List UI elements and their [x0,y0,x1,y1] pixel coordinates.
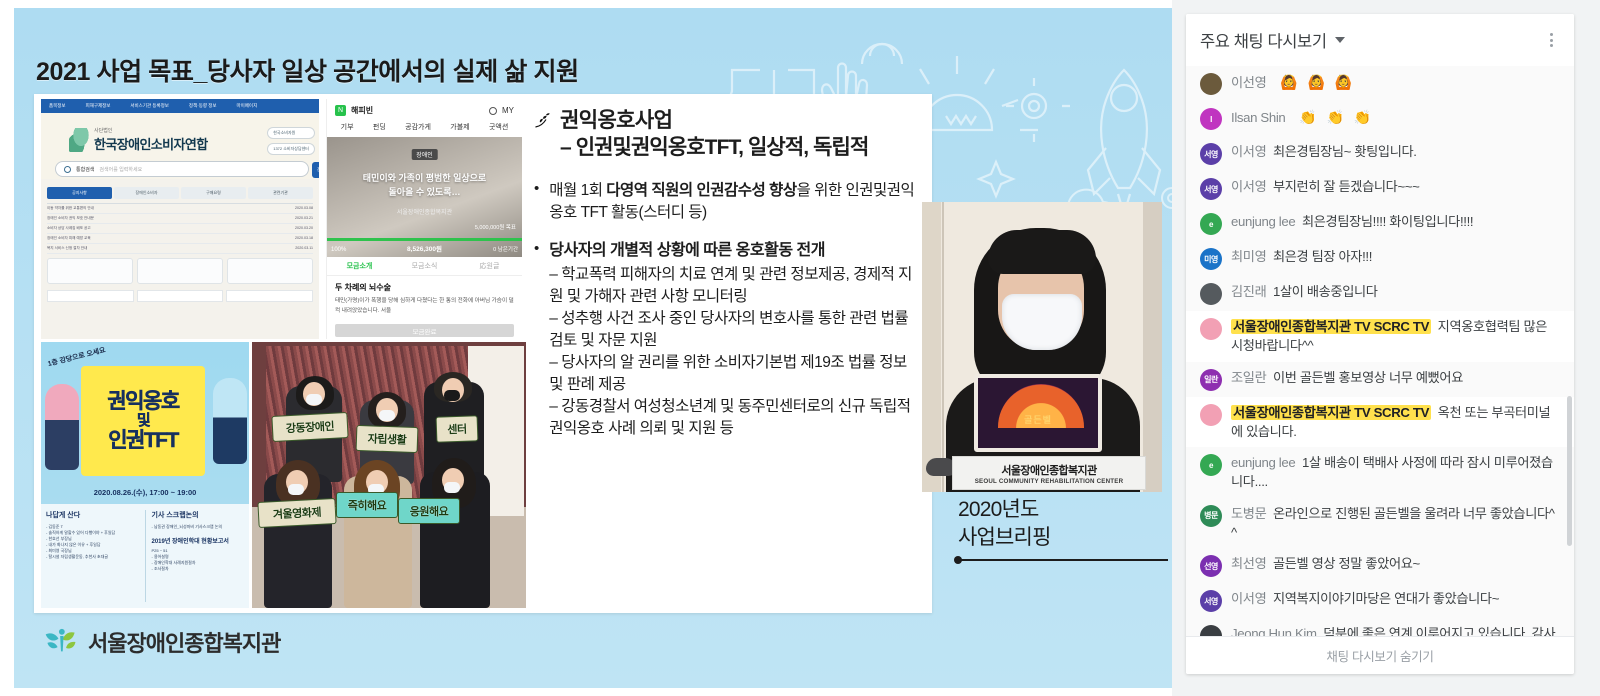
photo-sign: 즉히해요 [336,492,398,518]
chat-body: 1살이 배송중입니다 [1266,284,1377,299]
site-hero: 사단법인 한국장애인소비자연합 한국소비자원 1372 소비자상담센터 통합검색… [41,113,319,179]
chat-message: 선영최선영 골든벨 영상 정말 좋았어요~ [1186,548,1574,583]
site-card [47,258,133,284]
chat-message-text: 이서영 부지런히 잘 듣겠습니다~~~ [1231,177,1420,196]
avatar [1200,283,1222,305]
briefing-line-2: 사업브리핑 [958,524,1168,552]
site-tab: 구매요령 [181,187,246,199]
chat-author: Ilsan Shin [1231,110,1285,125]
site-org-name: 한국장애인소비자연합 [94,134,208,153]
nav-item: 마이페이지 [237,103,258,109]
happybean-my-link: MY [502,106,514,115]
tab: 모금소식 [392,261,457,271]
chat-author: 조일란 [1231,370,1266,385]
bullet-text: 매월 1회 다영역 직원의 인권감수성 향상을 위한 인권및권익옹호 TFT 활… [549,180,922,224]
chat-body: 온라인으로 진행된 골든벨을 울려라 너무 좋았습니다^^ [1231,506,1555,540]
chat-author: eunjung lee [1231,214,1295,229]
chat-body: 최은경 팀장 아자!!! [1266,249,1372,264]
nav-item: 피해구제정보 [86,103,111,109]
presenter-video-inset[interactable]: 골든벨 서울장애인종합복지관 SEOUL COMMUNITY REHABILIT… [922,202,1162,492]
bullet-subitem: – 강동경찰서 여성청소년계 및 동주민센터로의 신규 독립적 권익옹호 사례 … [549,396,922,440]
chat-author: 서울장애인종합복지관 TV SCRC TV [1231,319,1431,334]
chat-hide-footer[interactable]: 채팅 다시보기 숨기기 [1186,636,1574,674]
poster-col1-heading: 나답게 산다 [46,510,139,520]
bullet-bold: 다영역 직원의 인권감수성 향상 [606,182,796,199]
row-title: 장애인 소비자 권익 보호 안내문 [47,216,291,221]
app-root: 2021 사업 목표_당사자 일상 공간에서의 실제 삶 지원 품목정보 피해구… [0,0,1600,696]
chat-author: 최선영 [1231,556,1266,571]
target-icon [1006,78,1070,142]
chat-body: 최은경팀장님!!!! 화이팅입니다!!!! [1295,214,1473,229]
screenshot-advocacy-poster: 1층 강당으로 오세요 권익옹호 및 인권TFT 2020.08.26.(수),… [41,342,249,608]
search-icon [489,107,497,115]
poster-date: 2020.08.26.(수), 17:00 ~ 19:00 [41,487,249,498]
screenshot-consumer-association-site: 품목정보 피해구제정보 서비스기관 등록정보 정책·동향 정보 마이페이지 사단… [41,99,319,339]
bullet-text: 당사자의 개별적 상황에 따른 옹호활동 전개 – 학교폭력 피해자의 치료 연… [549,240,922,441]
chat-message-text: Ilsan Shin 👏 👏 👏 [1231,107,1374,127]
chat-scrollbar[interactable] [1567,396,1572,546]
row-date: 2020.03.08 [295,206,313,211]
chat-author: eunjung lee [1231,455,1295,470]
chat-author: 김진래 [1231,284,1266,299]
slide-heading-block: 권익옹호사업 – 인권및권익옹호TFT, 일상적, 독립적 [534,108,922,162]
bullet-subitem: – 당사자의 알 권리를 위한 소비자기본법 제19조 법률 정보 및 판례 제… [549,352,922,396]
nav-item: 정책·동향 정보 [189,103,217,109]
hero-line-1: 태민이와 가족이 평범한 일상으로 [327,171,522,184]
chat-message-text: 이선영 🙆 🙆 🙆 [1231,72,1355,92]
row-date: 2020.03.20 [295,226,313,231]
nav-item: 품목정보 [49,103,66,109]
poster-col2-heading-2: 2019년 장애인학대 현황보고서 [152,536,245,545]
chat-message: eeunjung lee 최은경팀장님!!!! 화이팅입니다!!!! [1186,206,1574,241]
chat-author: Jeong Hun Kim [1231,626,1317,636]
nav-item: 굿액션 [489,122,508,132]
chat-replay-panel: 주요 채팅 다시보기 이선영 🙆 🙆 🙆IIlsan Shin 👏 👏 👏서영이… [1186,14,1574,674]
table-row: 소비자 상담 사례집 배포 공고2020.03.20 [47,224,313,234]
scrc-bird-logo-icon [44,627,78,657]
chat-author: 이선영 [1231,75,1266,90]
hero-line-2: 돌아올 수 있도록… [327,185,522,198]
avatar: I [1200,108,1222,130]
chat-message: 일란조일란 이번 골든벨 홍보영상 너무 예뻤어요 [1186,362,1574,397]
row-title: 복지 서비스 신청 절차 안내 [47,246,291,251]
site-tab: 관련기관 [248,187,313,199]
chat-replay-column: 주요 채팅 다시보기 이선영 🙆 🙆 🙆IIlsan Shin 👏 👏 👏서영이… [1172,0,1600,696]
chat-body: 골든벨 영상 정말 좋았어요~ [1266,556,1420,571]
chat-body: 이번 골든벨 홍보영상 너무 예뻤어요 [1266,370,1463,385]
bullet-dot-icon: • [534,180,539,224]
chat-message-text: 도병문 온라인으로 진행된 골든벨을 울려라 너무 좋았습니다^^ [1231,504,1556,543]
chat-message: 서영이서영 지역복지이야기마당은 연대가 좋았습니다~ [1186,583,1574,618]
avatar: e [1200,213,1222,235]
partner-logo [47,290,134,302]
happybean-category-badge: 장애인 [411,149,438,160]
photo-sign: 겨울영화제 [257,498,336,528]
screenshot-group-photo: 강동장애인 자립생활 센터 겨울영화제 즉히해요 응원해요 [252,342,526,608]
site-search-bar: 통합검색 검색어를 입력하세요 검색 [55,161,309,177]
happybean-brand: 해피빈 [351,105,373,116]
search-placeholder: 검색어를 입력하세요 [99,166,142,173]
photo-mask [444,390,460,401]
tab: 応원글 [457,261,522,271]
photo-mask [306,394,322,405]
chat-author: 최미영 [1231,249,1266,264]
nav-item: 공감가게 [405,122,431,132]
chat-author: 이서영 [1231,591,1266,606]
avatar: 서영 [1200,178,1222,200]
bullet-strong-line: 당사자의 개별적 상황에 따른 옹호활동 전개 [549,240,922,263]
background-monitor: 골든벨 [974,374,1102,452]
bullet-subitem: – 학교폭력 피해자의 치료 연계 및 관련 정보제공, 경제적 지원 및 가해… [549,264,922,308]
presenter-face-mask [1002,294,1082,350]
chat-message-text: 서울장애인종합복지관 TV SCRC TV 지역옹호협력팀 많은 시청바랍니다^… [1231,317,1556,356]
slide-text-content: 권익옹호사업 – 인권및권익옹호TFT, 일상적, 독립적 • 매월 1회 다영… [534,108,922,603]
photo-mask [288,484,304,495]
slide-heading-2: – 인권및권익옹호TFT, 일상적, 독립적 [560,134,868,161]
bullet-subitem: – 성추행 사건 조사 중인 당사자의 변호사를 통한 관련 법률 검토 및 자… [549,308,922,352]
gear-icon [1162,188,1172,208]
chat-body: 🙆 🙆 🙆 [1266,74,1355,90]
happybean-hero: 장애인 태민이와 가족이 평범한 일상으로 돌아올 수 있도록… 서울장애인종합… [327,137,522,257]
hero-goal: 5,000,000원 목표 [475,223,516,231]
chat-message-text: 조일란 이번 골든벨 홍보영상 너무 예뻤어요 [1231,368,1463,387]
bullet-dot-icon: • [534,240,539,441]
chat-body: 최은경팀장님~ 홧팅입니다. [1266,144,1416,159]
organization-logo: 서울장애인종합복지관 [44,626,280,658]
chat-message-list[interactable]: 이선영 🙆 🙆 🙆IIlsan Shin 👏 👏 👏서영이서영 최은경팀장님~ … [1186,66,1574,636]
happybean-header: N 해피빈 MY [327,99,522,122]
row-title: 장애인 소비자 피해 예방 교육 [47,236,291,241]
plate-english-name: SEOUL COMMUNITY REHABILITATION CENTER [975,478,1124,485]
poster-column-right: 기사 스크랩논의 - 남동권 장애인_뇌성마비 기사스크랩 논의 2019년 장… [152,510,245,602]
bullet-lead: 매월 1회 [549,182,606,199]
monitor-caption: 골든벨 [978,413,1098,426]
chat-body: 지역복지이야기마당은 연대가 좋았습니다~ [1266,591,1499,606]
poster-col2-item: - 남동권 장애인_뇌성마비 기사스크랩 논의 [152,524,245,530]
story-body: 태민(가명)이가 폭행을 당해 심하게 다쳤다는 한 통의 전화에 아버님 가슴… [327,293,522,320]
site-partner-logos [41,288,319,304]
nav-item: 가볼제 [450,122,469,132]
chat-message: 병문도병문 온라인으로 진행된 골든벨을 울려라 너무 좋았습니다^^ [1186,498,1574,549]
tab: 모금소개 [327,261,392,271]
chat-message: Jeong Hun Kim 덕분에 좋은 연계 이루어지고 있습니다. 감사합니… [1186,618,1574,636]
presenter-fringe [988,230,1096,274]
poster-col1-item: - 탈시설 자립생활운동, 추천사 초대글 [46,554,139,560]
chat-author: 이서영 [1231,144,1266,159]
chat-header: 주요 채팅 다시보기 [1186,14,1574,66]
happybean-logo-icon: N [335,105,346,116]
avatar: 서영 [1200,143,1222,165]
table-row: 장애인 소비자 권익 보호 안내문2020.03.21 [47,214,313,224]
sparkle-icon [979,162,1013,196]
chat-body: 부지런히 잘 듣겠습니다~~~ [1266,179,1419,194]
briefing-line-1: 2020년도 [958,496,1168,524]
poster-title-line-3: 인권TFT [108,430,178,451]
site-tab: 공지사항 [47,187,112,199]
avatar [1200,318,1222,340]
chat-message: 이선영 🙆 🙆 🙆 [1186,66,1574,101]
nav-item: 펀딩 [373,122,386,132]
wall-seam [942,202,944,492]
photo-mask [379,410,395,421]
site-tabs: 공지사항 장애인소비자 구매요령 관련기관 [47,187,313,199]
site-nav: 품목정보 피해구제정보 서비스기관 등록정보 정책·동향 정보 마이페이지 [41,99,319,113]
chat-message: 미영최미영 최은경 팀장 아자!!! [1186,241,1574,276]
table-row: 이동 약자를 위한 교통편의 안내2020.03.08 [47,204,313,214]
partner-logo [226,290,313,302]
slide-heading-1: 권익옹호사업 [560,108,868,134]
avatar [1200,404,1222,426]
chat-message: 서영이서영 최은경팀장님~ 홧팅입니다. [1186,136,1574,171]
site-card [137,258,223,284]
donate-cta-button: 모금완료 [335,324,514,337]
chat-author: 도병문 [1231,506,1266,521]
chat-message: 서울장애인종합복지관 TV SCRC TV 지역옹호협력팀 많은 시청바랍니다^… [1186,311,1574,362]
slide-title: 2021 사업 목표_당사자 일상 공간에서의 실제 삶 지원 [36,52,579,88]
screenshot-happybean-donation-page: N 해피빈 MY 기부 펀딩 공감가게 가볼제 굿액션 장애인 태민이 [326,99,522,339]
leaf-logo-icon [69,128,89,152]
slide-bullet-list: • 매월 1회 다영역 직원의 인권감수성 향상을 위한 인권및권익옹호 TFT… [534,180,922,441]
search-button: 검색 [312,162,319,178]
avatar: 서영 [1200,590,1222,612]
chat-message: 서울장애인종합복지관 TV SCRC TV 옥천 또는 부곡터미널에 있습니다. [1186,397,1574,448]
site-cards [41,254,319,288]
row-date: 2020.03.18 [295,236,313,241]
table-row: 복지 서비스 신청 절차 안내2020.03.11 [47,244,313,254]
avatar [1200,625,1222,636]
row-date: 2020.03.11 [295,246,313,251]
chat-message-text: 서울장애인종합복지관 TV SCRC TV 옥천 또는 부곡터미널에 있습니다. [1231,403,1556,442]
site-tab: 장애인소비자 [114,187,179,199]
chat-message-text: 이서영 최은경팀장님~ 홧팅입니다. [1231,142,1417,161]
nav-item: 기부 [341,122,354,132]
site-assoc-label: 사단법인 [94,127,208,134]
happybean-nav: 기부 펀딩 공감가게 가볼제 굿액션 [327,122,522,137]
center-name-plate: 서울장애인종합복지관 SEOUL COMMUNITY REHABILITATIO… [952,456,1146,490]
avatar: 병문 [1200,505,1222,527]
chat-message: 김진래 1살이 배송중입니다 [1186,276,1574,311]
photo-sign: 센터 [436,415,479,442]
avatar: 선영 [1200,555,1222,577]
avatar: 일란 [1200,369,1222,391]
chat-author: 서울장애인종합복지관 TV SCRC TV [1231,405,1431,420]
avatar: e [1200,454,1222,476]
chat-message-text: eunjung lee 1살 배송이 택배사 사정에 따라 잠시 미루어졌습니다… [1231,453,1556,492]
rocket-icon [1088,70,1160,214]
story-title: 두 차례의 뇌수술 [327,276,522,293]
photo-sign: 자립생활 [356,425,419,453]
table-row: 장애인 소비자 피해 예방 교육2020.03.18 [47,234,313,244]
chat-hide-label: 채팅 다시보기 숨기기 [1326,646,1433,665]
partner-logo [137,290,224,302]
bullet-item: • 당사자의 개별적 상황에 따른 옹호활동 전개 – 학교폭력 피해자의 치료… [534,240,922,441]
poster-figure-left [45,384,79,470]
happybean-tabs: 모금소개 모금소식 応원글 [327,257,522,276]
hero-org: 서울장애인종합복지관 [327,207,522,216]
row-title: 이동 약자를 위한 교통편의 안내 [47,206,291,211]
presentation-stage: 2021 사업 목표_당사자 일상 공간에서의 실제 삶 지원 품목정보 피해구… [0,0,1172,696]
poster-divider [145,510,146,602]
plate-korean-name: 서울장애인종합복지관 [1001,462,1096,478]
avatar: 미영 [1200,248,1222,270]
chat-title[interactable]: 주요 채팅 다시보기 [1200,28,1327,52]
site-quick-links: 한국소비자원 1372 소비자상담센터 [267,127,315,155]
quick-link: 한국소비자원 [267,127,315,139]
poster-column-left: 나답게 산다 - 김동준 T - 솔직하게 말할수 있어 다행이야 + 후일담 … [46,510,139,602]
row-date: 2020.03.21 [295,216,313,221]
slide-content-card: 품목정보 피해구제정보 서비스기관 등록정보 정책·동향 정보 마이페이지 사단… [34,94,932,613]
slide-canvas: 2021 사업 목표_당사자 일상 공간에서의 실제 삶 지원 품목정보 피해구… [14,8,1172,688]
slide-heading-lines: 권익옹호사업 – 인권및권익옹호TFT, 일상적, 독립적 [560,108,868,162]
avatar [1200,73,1222,95]
poster-figure-right [213,378,247,464]
search-icon [64,166,71,173]
chat-message: eeunjung lee 1살 배송이 택배사 사정에 따라 잠시 미루어졌습니… [1186,447,1574,498]
chat-message: IIlsan Shin 👏 👏 👏 [1186,101,1574,136]
chevron-down-icon[interactable] [1335,37,1345,43]
chat-message-text: 최선영 골든벨 영상 정말 좋았어요~ [1231,554,1420,573]
hero-days: 0 남은기간 [493,245,518,253]
chat-message-text: 김진래 1살이 배송중입니다 [1231,282,1378,301]
chat-message: 서영이서영 부지런히 잘 듣겠습니다~~~ [1186,171,1574,206]
poster-col2-heading: 기사 스크랩논의 [152,510,245,520]
chat-author: 이서영 [1231,179,1266,194]
leaf-sprig-icon [534,112,552,130]
chat-message-text: eunjung lee 최은경팀장님!!!! 화이팅입니다!!!! [1231,212,1473,231]
kebab-menu-icon[interactable] [1542,31,1560,49]
nav-item: 서비스기관 등록정보 [130,103,169,109]
poster-title-box: 권익옹호 및 인권TFT [81,366,205,476]
photo-sign: 강동장애인 [271,412,348,442]
organization-name: 서울장애인종합복지관 [88,626,280,658]
poster-top: 1층 강당으로 오세요 권익옹호 및 인권TFT 2020.08.26.(수),… [41,342,249,504]
briefing-caption: 2020년도 사업브리핑 [958,496,1168,561]
poster-title-line-1: 권익옹호 [107,391,178,412]
poster-bottom: 나답게 산다 - 김동준 T - 솔직하게 말할수 있어 다행이야 + 후일담 … [41,504,249,608]
poster-col2-item: - 조사절차 [152,566,245,572]
chat-message-text: Jeong Hun Kim 덕분에 좋은 연계 이루어지고 있습니다. 감사합니… [1231,624,1556,636]
poster-title-line-2: 및 [137,413,149,428]
chat-body: 👏 👏 👏 [1285,109,1374,125]
briefing-rule [958,559,1168,561]
photo-mask [444,482,460,493]
chat-message-text: 최미영 최은경 팀장 아자!!! [1231,247,1372,266]
quick-link: 1372 소비자상담센터 [267,143,315,155]
site-notice-table: 이동 약자를 위한 교통편의 안내2020.03.08 장애인 소비자 권익 보… [47,203,313,254]
chat-message-text: 이서영 지역복지이야기마당은 연대가 좋았습니다~ [1231,589,1499,608]
bullet-item: • 매월 1회 다영역 직원의 인권감수성 향상을 위한 인권및권익옹호 TFT… [534,180,922,224]
site-card [227,258,313,284]
row-title: 소비자 상담 사례집 배포 공고 [47,226,291,231]
search-label: 통합검색 [76,166,94,173]
photo-sign: 응원해요 [398,498,460,524]
